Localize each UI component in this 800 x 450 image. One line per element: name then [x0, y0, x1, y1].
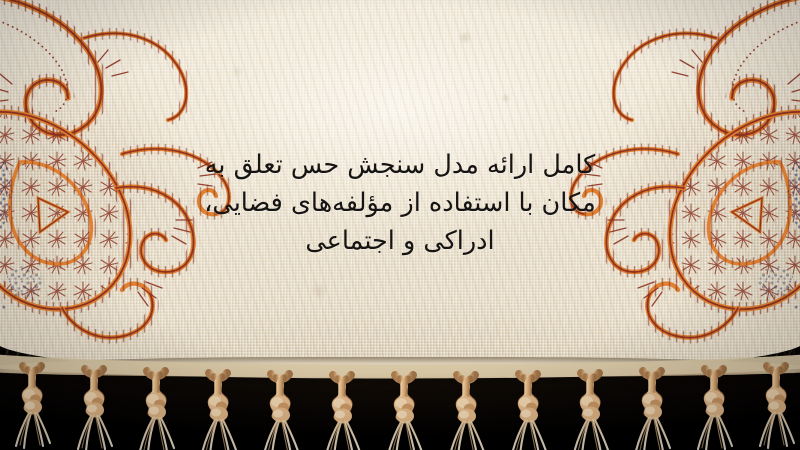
- title-line-1: کامل ارائه مدل سنجش حس تعلق به: [200, 146, 600, 184]
- slide-canvas: کامل ارائه مدل سنجش حس تعلق به مکان با ا…: [0, 0, 800, 450]
- slide-title: کامل ارائه مدل سنجش حس تعلق به مکان با ا…: [200, 146, 600, 260]
- title-line-2: مکان با استفاده از مؤلفه‌های فضایی،: [200, 184, 600, 222]
- cloth-rolled-hem: [0, 357, 800, 377]
- title-line-3: ادراکی و اجتماعی: [200, 222, 600, 260]
